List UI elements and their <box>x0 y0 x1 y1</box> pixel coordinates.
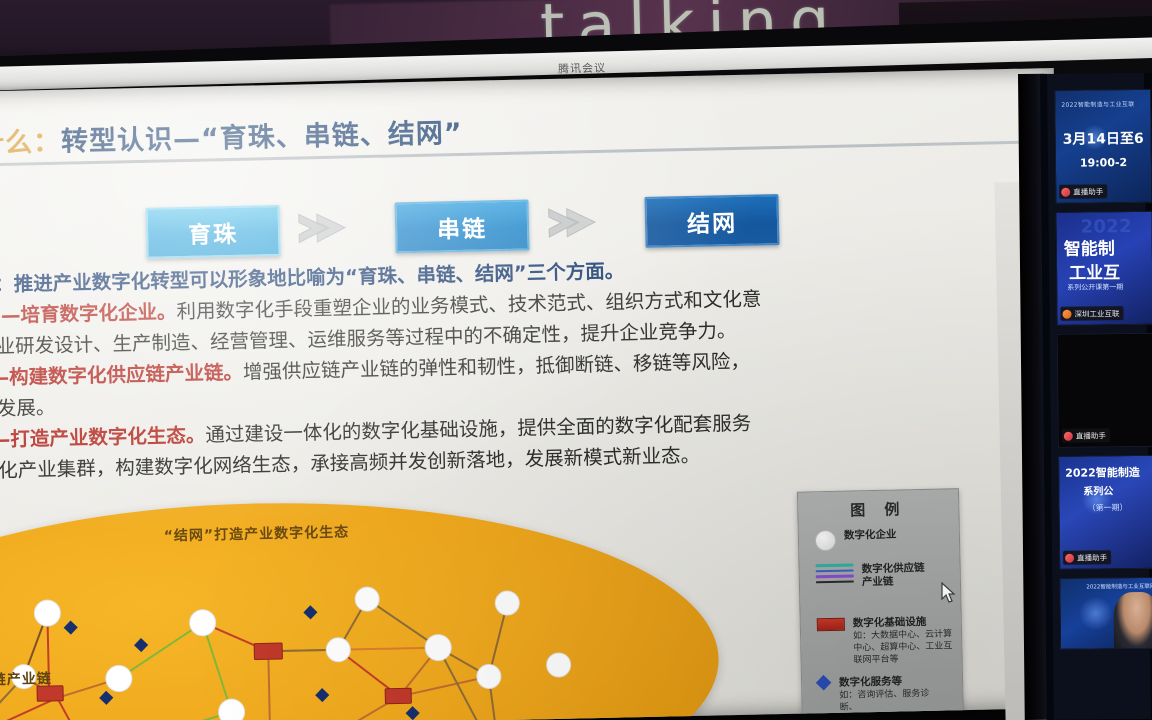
thumbnail-header: 2022智能制造与工业互联 <box>1061 99 1134 109</box>
thumbnail-badge: 直播助手 <box>1059 184 1107 199</box>
thumbnail-participant-3[interactable]: 直播助手 <box>1057 333 1152 448</box>
video-thumbnail-sidebar: 2022智能制造与工业互联 3月14日至6 19:00-2 直播助手 2022 … <box>1040 73 1152 720</box>
legend-panel: 图 例 数字化企业 数字化供应链 产业链 数字化基础设施 如：大数据中心、云计算… <box>797 488 964 718</box>
page-title-main: 转型认识—“育珠、串链、结网” <box>61 118 463 158</box>
thumbnail-badge: 直播助手 <box>1063 550 1111 565</box>
thumbnail-date: 3月14日至6 <box>1063 128 1144 149</box>
legend-item-label: 数字化供应链 产业链 <box>861 562 925 589</box>
legend-item-supplychain: 数字化供应链 产业链 <box>816 562 926 590</box>
factory-icon <box>1062 309 1071 318</box>
thumbnail-participant-4[interactable]: 2022智能制造 系列公 （第一期） 直播助手 <box>1058 455 1152 570</box>
thumbnail-participant-5[interactable]: 2022智能制造与工业互联网系列公开课 <box>1059 577 1152 650</box>
legend-item-services: 数字化服务等 如：咨询评估、服务诊断、 <box>818 675 940 715</box>
chip-label: 结网 <box>687 203 738 238</box>
slide-body: 产业层面：推进产业数字化转型可以形象地比喻为“育珠、串链、结网”三个方面。 “育… <box>0 248 990 488</box>
thumbnail-title-1: 智能制 <box>1064 234 1115 260</box>
chevron-right-icon <box>297 211 356 244</box>
chip-jiewang: 结网 <box>644 194 779 248</box>
thumbnail-subtitle-2: （第一期） <box>1087 502 1127 513</box>
diagram-title: “结网”打造产业数字化生态 <box>164 521 350 545</box>
thumbnail-header: 2022智能制造与工业互联网系列公开课 <box>1086 582 1152 591</box>
thumbnail-glow <box>1078 596 1112 630</box>
broadcast-icon <box>1064 431 1073 440</box>
thumbnail-participant-1[interactable]: 2022智能制造与工业互联 3月14日至6 19:00-2 直播助手 <box>1054 89 1152 204</box>
thumbnail-badge-label: 深圳工业互联 <box>1074 308 1119 319</box>
legend-item-enterprise: 数字化企业 <box>815 529 897 552</box>
thumbnail-time: 19:00-2 <box>1080 156 1127 169</box>
white-circle-icon <box>815 530 836 551</box>
thumbnail-title: 2022智能制造 <box>1065 464 1140 481</box>
chevron-right-icon <box>547 206 606 239</box>
legend-item-sub: 如：大数据中心、云计算中心、超算中心、工业互联网平台等 <box>853 628 954 666</box>
broadcast-icon <box>1061 187 1070 196</box>
thumbnail-badge-label: 直播助手 <box>1077 552 1107 563</box>
projected-slide: 是什么：转型认识—“育珠、串链、结网” 育珠 串链 结网 产业层面：推 <box>0 68 1068 720</box>
thumbnail-badge: 直播助手 <box>1062 428 1110 443</box>
body-seg: 结网”——打造产业数字化生态。 <box>0 424 206 453</box>
body-seg: 串链”——构建数字化供应链产业链。 <box>0 361 243 391</box>
legend-item-label: 数字化企业 <box>844 529 897 543</box>
red-rect-icon <box>817 618 845 632</box>
chip-yuzhu: 育珠 <box>146 205 281 259</box>
thumbnail-subtitle-1: 系列公 <box>1083 482 1113 497</box>
legend-item-infrastructure: 数字化基础设施 如：大数据中心、云计算中心、超算中心、工业互联网平台等 <box>817 615 954 667</box>
speaker-avatar <box>1113 592 1152 650</box>
thumbnail-badge-label: 直播助手 <box>1076 430 1106 441</box>
diagram-side-label: 数字化供应链产业链 <box>0 668 52 691</box>
network-diagram-graph <box>0 493 722 720</box>
legend-title: 图 例 <box>798 497 958 521</box>
thumbnail-participant-2[interactable]: 2022 智能制 工业互 系列公开课第一期 深圳工业互联 <box>1055 211 1152 326</box>
chip-label: 育珠 <box>188 214 239 249</box>
legend-item-sub: 如：咨询评估、服务诊断、 <box>839 688 939 714</box>
thumbnail-title-2: 工业互 <box>1069 258 1120 284</box>
chip-label: 串链 <box>437 209 488 244</box>
thumbnail-badge-label: 直播助手 <box>1073 186 1103 197</box>
screenshot-root: talking 腾讯会议 是什么：转型认识—“育珠、串链、结网” 育珠 串链 <box>0 0 1152 720</box>
page-title-prefix: 是什么： <box>0 127 61 160</box>
broadcast-icon <box>1065 553 1074 562</box>
body-seg: “育珠”——培育数字化企业。 <box>0 300 177 329</box>
chip-chuanlian: 串链 <box>395 199 530 253</box>
multi-line-icon <box>816 563 854 586</box>
thumbnail-subtitle: 系列公开课第一期 <box>1067 282 1123 293</box>
body-seg: 障可持续发展。 <box>0 396 56 422</box>
thumbnail-badge: 深圳工业互联 <box>1060 306 1123 321</box>
